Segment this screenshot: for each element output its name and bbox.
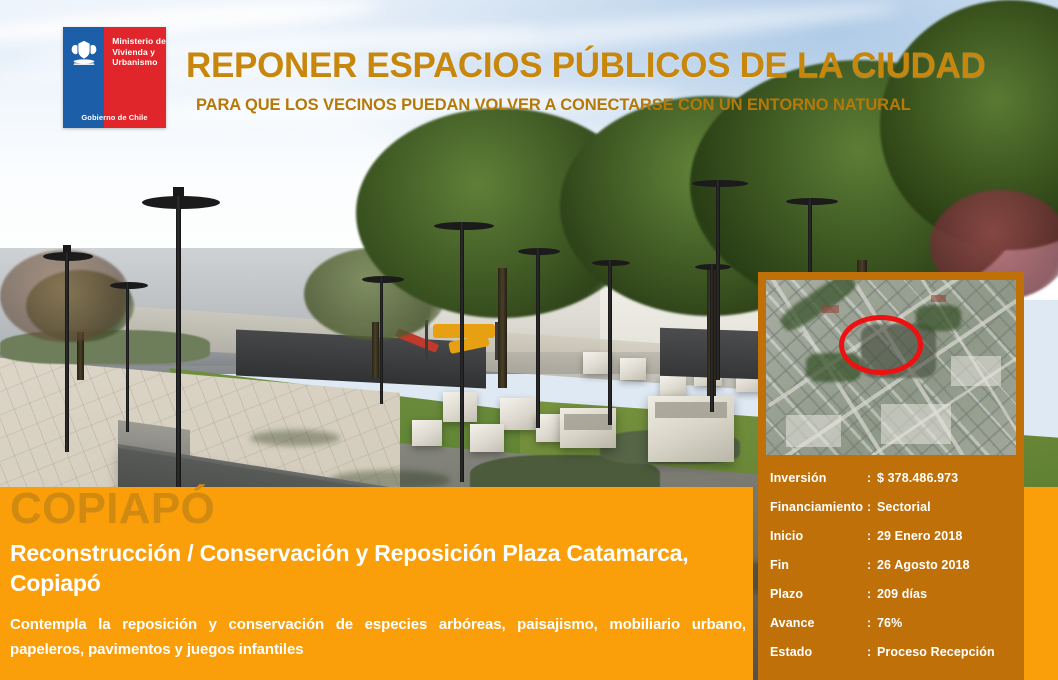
info-row-inicio: Inicio:29 Enero 2018 xyxy=(770,529,1020,543)
info-value: Sectorial xyxy=(877,500,931,514)
project-poster: Ministerio de Vivienda y Urbanismo Gobie… xyxy=(0,0,1058,680)
info-row-plazo: Plazo:209 días xyxy=(770,587,1020,601)
info-label: Inversión xyxy=(770,471,867,485)
concrete-cube xyxy=(500,398,536,430)
info-separator: : xyxy=(867,616,877,630)
lamp-pole xyxy=(65,252,69,452)
info-row-inversion: Inversión:$ 378.486.973 xyxy=(770,471,1020,485)
tree-trunk xyxy=(498,268,507,388)
aerial-map-image xyxy=(766,280,1016,462)
info-separator: : xyxy=(867,645,877,659)
logo-ministry-line3: Urbanismo xyxy=(112,57,166,68)
map-vegetation xyxy=(916,305,961,330)
info-row-fin: Fin:26 Agosto 2018 xyxy=(770,558,1020,572)
right-orange-strip xyxy=(1024,487,1058,680)
info-label: Estado xyxy=(770,645,867,659)
lamp-head xyxy=(362,276,404,283)
city-name: COPIAPÓ xyxy=(10,484,215,534)
info-value: 29 Enero 2018 xyxy=(877,529,962,543)
info-value: Proceso Recepción xyxy=(877,645,995,659)
info-row-financiamiento: Financiamiento:Sectorial xyxy=(770,500,1020,514)
info-label: Fin xyxy=(770,558,867,572)
map-location-marker xyxy=(839,315,923,375)
project-summary-panel: COPIAPÓ Reconstrucción / Conservación y … xyxy=(0,487,753,680)
lamp-pole xyxy=(380,276,383,404)
info-separator: : xyxy=(867,471,877,485)
shadow-fleck xyxy=(250,430,340,446)
info-separator: : xyxy=(867,558,877,572)
square-planter xyxy=(648,396,734,462)
info-label: Inicio xyxy=(770,529,867,543)
poster-header: Ministerio de Vivienda y Urbanismo Gobie… xyxy=(0,0,1058,140)
logo-government-text: Gobierno de Chile xyxy=(63,113,166,122)
lamp-head xyxy=(692,180,748,187)
lamp-pole xyxy=(716,180,720,380)
chile-coat-of-arms-icon xyxy=(69,38,99,68)
planter-soil xyxy=(564,414,611,430)
logo-ministry-line1: Ministerio de xyxy=(112,36,166,47)
info-label: Plazo xyxy=(770,587,867,601)
map-roof xyxy=(931,295,946,302)
lamp-pole xyxy=(536,248,540,428)
info-value: $ 378.486.973 xyxy=(877,471,958,485)
lamp-head xyxy=(142,196,220,209)
info-row-estado: Estado:Proceso Recepción xyxy=(770,645,1020,659)
info-value: 209 días xyxy=(877,587,927,601)
planter-soil xyxy=(655,402,727,418)
map-building xyxy=(951,356,1001,385)
lamp-head xyxy=(434,222,494,230)
map-building xyxy=(881,404,951,444)
lamp-pole xyxy=(710,264,714,412)
info-separator: : xyxy=(867,500,877,514)
info-label: Financiamiento xyxy=(770,500,867,514)
lamp-head xyxy=(110,282,148,289)
concrete-cube xyxy=(470,424,504,452)
location-map-inset[interactable] xyxy=(758,272,1024,470)
project-description: Contempla la reposición y conservación d… xyxy=(10,612,746,662)
lamp-head xyxy=(786,198,838,205)
poster-title: REPONER ESPACIOS PÚBLICOS DE LA CIUDAD xyxy=(186,46,1006,86)
lamp-pole xyxy=(176,196,181,496)
project-info-panel: Inversión:$ 378.486.973 Financiamiento:S… xyxy=(758,455,1024,680)
map-roof xyxy=(821,305,839,312)
map-building xyxy=(786,415,841,448)
info-value: 76% xyxy=(877,616,902,630)
logo-ministry-line2: Vivienda y xyxy=(112,47,166,58)
poster-subtitle: PARA QUE LOS VECINOS PUEDAN VOLVER A CON… xyxy=(196,96,996,115)
info-separator: : xyxy=(867,529,877,543)
info-value: 26 Agosto 2018 xyxy=(877,558,970,572)
project-name: Reconstrucción / Conservación y Reposici… xyxy=(10,538,730,598)
lamp-pole xyxy=(126,282,129,432)
lamp-pole xyxy=(608,260,612,425)
info-row-avance: Avance: 76% xyxy=(770,616,1020,630)
lamp-pole xyxy=(460,222,464,482)
info-label: Avance xyxy=(770,616,867,630)
info-separator: : xyxy=(867,587,877,601)
concrete-cube xyxy=(412,420,442,446)
logo-ministry-text: Ministerio de Vivienda y Urbanismo xyxy=(112,36,166,68)
minvu-logo: Ministerio de Vivienda y Urbanismo Gobie… xyxy=(63,27,166,128)
